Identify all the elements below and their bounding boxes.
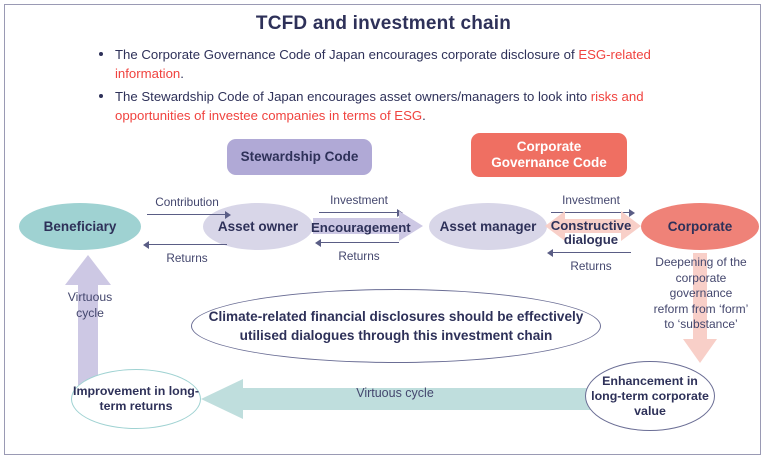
node-corporate-label: Corporate bbox=[668, 219, 733, 234]
flow-bottom-label: Returns bbox=[543, 259, 639, 273]
flow-top-label: Investment bbox=[543, 193, 639, 207]
outcome-enhancement: Enhancement in long-term corporate value bbox=[585, 361, 715, 431]
flow-asset-owner-asset-manager: Investment Encouragement Returns bbox=[311, 193, 407, 263]
bullet-list: The Corporate Governance Code of Japan e… bbox=[97, 45, 697, 129]
bullet-dot-icon bbox=[99, 52, 103, 56]
bullet-dot-icon bbox=[99, 94, 103, 98]
bullet-text-tail: . bbox=[422, 108, 426, 123]
list-item: The Corporate Governance Code of Japan e… bbox=[97, 45, 697, 83]
bullet-text-tail: . bbox=[180, 66, 184, 81]
central-statement: Climate-related financial disclosures sh… bbox=[191, 289, 601, 363]
diagram-frame: TCFD and investment chain The Corporate … bbox=[4, 4, 761, 455]
flow-middle-label: Encouragement bbox=[311, 219, 407, 237]
corporate-governance-code-badge: Corporate Governance Code bbox=[471, 133, 627, 177]
flow-middle-label: Constructive dialogue bbox=[543, 219, 639, 247]
flow-top-label: Contribution bbox=[139, 195, 235, 209]
page-title: TCFD and investment chain bbox=[5, 13, 762, 35]
central-statement-text: Climate-related financial disclosures sh… bbox=[192, 307, 600, 345]
flow-bottom-label: Returns bbox=[139, 251, 235, 265]
flow-bottom-label: Returns bbox=[311, 249, 407, 263]
arrow-left-icon bbox=[139, 239, 235, 251]
outcome-improvement-label: Improvement in long-term returns bbox=[72, 384, 200, 414]
outcome-enhancement-label: Enhancement in long-term corporate value bbox=[586, 374, 714, 419]
stewardship-code-badge: Stewardship Code bbox=[227, 139, 372, 175]
node-corporate: Corporate bbox=[641, 203, 759, 250]
flow-middle-spacer bbox=[139, 221, 235, 239]
flow-asset-manager-corporate: Investment Constructive dialogue Returns bbox=[543, 193, 639, 273]
bullet-text-lead: The Corporate Governance Code of Japan e… bbox=[115, 47, 578, 62]
flow-top-label: Investment bbox=[311, 193, 407, 207]
stewardship-code-label: Stewardship Code bbox=[241, 149, 359, 165]
node-asset-manager-label: Asset manager bbox=[440, 219, 537, 234]
arrow-left-icon bbox=[543, 247, 639, 259]
node-beneficiary-label: Beneficiary bbox=[44, 219, 117, 234]
bullet-text-lead: The Stewardship Code of Japan encourages… bbox=[115, 89, 591, 104]
node-asset-manager: Asset manager bbox=[429, 203, 547, 250]
virtuous-cycle-horizontal-label: Virtuous cycle bbox=[305, 386, 485, 400]
arrow-right-icon bbox=[139, 209, 235, 221]
deepening-note: Deepening of the corporate governance re… bbox=[651, 255, 751, 333]
node-beneficiary: Beneficiary bbox=[19, 203, 141, 250]
flow-beneficiary-asset-owner: Contribution Returns bbox=[139, 195, 235, 265]
list-item: The Stewardship Code of Japan encourages… bbox=[97, 87, 697, 125]
virtuous-cycle-vertical-label: Virtuous cycle bbox=[55, 289, 125, 321]
outcome-improvement: Improvement in long-term returns bbox=[71, 369, 201, 429]
corporate-governance-code-label: Corporate Governance Code bbox=[491, 139, 607, 170]
